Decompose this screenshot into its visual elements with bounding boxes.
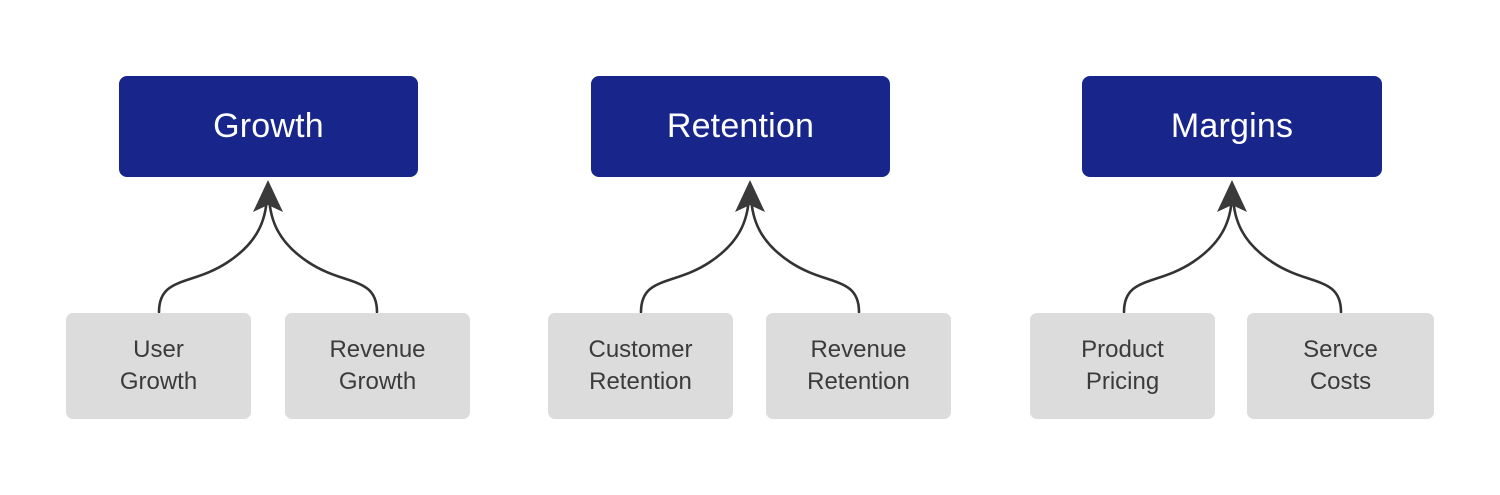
parent-node-label: Retention (667, 108, 814, 145)
child-node-label: Revenue Retention (807, 334, 910, 398)
parent-node-label: Growth (213, 108, 324, 145)
connector-layer (0, 0, 1500, 495)
connector-customer-retention (641, 196, 749, 312)
child-label-line-1: Revenue (807, 334, 910, 366)
child-label-line-1: Customer (588, 334, 692, 366)
child-label-line-1: Servce (1303, 334, 1378, 366)
connector-user-growth (159, 196, 267, 312)
connector-group-retention (641, 180, 859, 312)
child-node-product-pricing[interactable]: Product Pricing (1030, 313, 1215, 419)
child-node-servce-costs[interactable]: Servce Costs (1247, 313, 1434, 419)
child-node-label: Product Pricing (1081, 334, 1164, 398)
driver-tree-diagram: Growth User Growth Revenue Growth Retent… (0, 0, 1500, 495)
arrowhead-retention (735, 180, 765, 212)
connector-revenue-retention (751, 196, 859, 312)
connector-product-pricing (1124, 196, 1232, 312)
child-node-label: Servce Costs (1303, 334, 1378, 398)
child-label-line-1: User (120, 334, 197, 366)
child-node-revenue-growth[interactable]: Revenue Growth (285, 313, 470, 419)
child-label-line-1: Product (1081, 334, 1164, 366)
connector-servce-costs (1233, 196, 1341, 312)
child-node-label: Revenue Growth (329, 334, 425, 398)
parent-node-label: Margins (1171, 108, 1293, 145)
parent-node-growth[interactable]: Growth (119, 76, 418, 177)
connector-group-margins (1124, 180, 1341, 312)
parent-node-retention[interactable]: Retention (591, 76, 890, 177)
child-node-revenue-retention[interactable]: Revenue Retention (766, 313, 951, 419)
child-label-line-1: Revenue (329, 334, 425, 366)
child-label-line-2: Retention (588, 366, 692, 398)
arrowhead-margins (1217, 180, 1247, 212)
connector-group-growth (159, 180, 377, 312)
child-label-line-2: Growth (120, 366, 197, 398)
arrowhead-growth (253, 180, 283, 212)
child-label-line-2: Pricing (1081, 366, 1164, 398)
child-node-customer-retention[interactable]: Customer Retention (548, 313, 733, 419)
child-label-line-2: Retention (807, 366, 910, 398)
child-label-line-2: Costs (1303, 366, 1378, 398)
parent-node-margins[interactable]: Margins (1082, 76, 1382, 177)
child-node-label: Customer Retention (588, 334, 692, 398)
child-node-user-growth[interactable]: User Growth (66, 313, 251, 419)
child-node-label: User Growth (120, 334, 197, 398)
child-label-line-2: Growth (329, 366, 425, 398)
connector-revenue-growth (269, 196, 377, 312)
